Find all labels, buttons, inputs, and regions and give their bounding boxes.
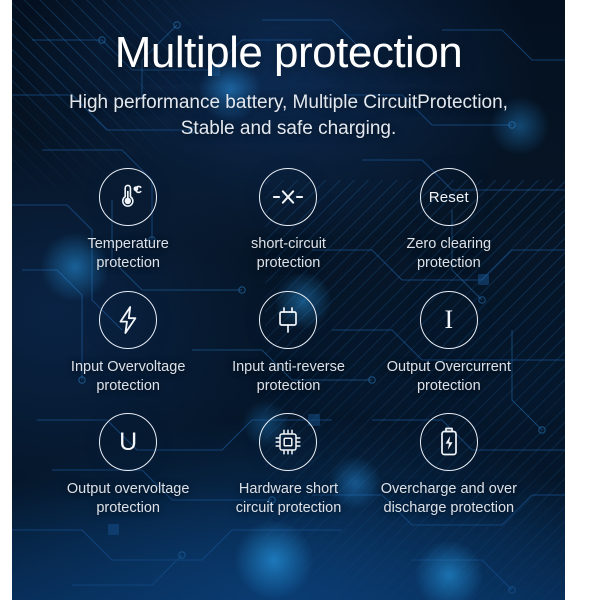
microchip-icon (273, 427, 303, 457)
feature-label-line-1: Output overvoltage (67, 480, 190, 499)
feature-label-line-2: protection (387, 377, 511, 396)
feature-label-line-2: protection (71, 377, 185, 396)
feature-label-line-1: Output Overcurrent (387, 358, 511, 377)
feature-label-line-1: short-circuit (251, 235, 326, 254)
page-subtitle: High performance battery, Multiple Circu… (12, 90, 565, 142)
feature-label-line-2: protection (87, 254, 168, 273)
feature-item-zero-clearing-protection: Reset Zero clearing protection (369, 168, 529, 273)
feature-item-temperature-protection: Temperature protection (48, 168, 208, 273)
feature-label-line-2: protection (67, 499, 190, 518)
icon-circle (259, 413, 317, 471)
feature-label-line-1: Input Overvoltage (71, 358, 185, 377)
subtitle-line-2: Stable and safe charging. (12, 116, 565, 142)
feature-label: Input Overvoltage protection (71, 358, 185, 396)
feature-label: Temperature protection (87, 235, 168, 273)
feature-label: Zero clearing protection (407, 235, 492, 273)
icon-circle: Reset (420, 168, 478, 226)
battery-bolt-icon (437, 426, 461, 458)
feature-label-line-1: Hardware short (236, 480, 342, 499)
icon-circle (259, 168, 317, 226)
icon-circle (99, 291, 157, 349)
feature-label-line-1: Overcharge and over (381, 480, 517, 499)
feature-label-line-1: Temperature (87, 235, 168, 254)
feature-label-line-2: protection (407, 254, 492, 273)
icon-circle (259, 291, 317, 349)
feature-item-overcharge-discharge-protection: Overcharge and over discharge protection (369, 413, 529, 518)
promo-banner: Multiple protection High performance bat… (0, 0, 600, 600)
icon-circle (99, 168, 157, 226)
lightning-bolt-icon (115, 305, 141, 335)
current-i-icon: I (444, 307, 453, 333)
feature-label-line-2: protection (251, 254, 326, 273)
feature-label: Input anti-reverse protection (232, 358, 345, 396)
feature-label: Output overvoltage protection (67, 480, 190, 518)
short-circuit-x-icon (272, 188, 304, 206)
page-title: Multiple protection (12, 30, 565, 76)
feature-item-input-overvoltage-protection: Input Overvoltage protection (48, 291, 208, 396)
feature-label-line-2: protection (232, 377, 345, 396)
feature-item-output-overcurrent-protection: I Output Overcurrent protection (369, 291, 529, 396)
subtitle-line-1: High performance battery, Multiple Circu… (12, 90, 565, 116)
feature-label: Output Overcurrent protection (387, 358, 511, 396)
feature-item-output-overvoltage-protection: U Output overvoltage protection (48, 413, 208, 518)
feature-item-short-circuit-protection: short-circuit protection (208, 168, 368, 273)
icon-circle: I (420, 291, 478, 349)
thermometer-celsius-icon (113, 182, 143, 212)
feature-item-input-anti-reverse-protection: Input anti-reverse protection (208, 291, 368, 396)
icon-circle: U (99, 413, 157, 471)
feature-label-line-2: discharge protection (381, 499, 517, 518)
voltage-u-icon: U (119, 430, 137, 455)
feature-item-hardware-short-circuit-protection: Hardware short circuit protection (208, 413, 368, 518)
icon-circle (420, 413, 478, 471)
feature-label-line-1: Input anti-reverse (232, 358, 345, 377)
feature-label: Hardware short circuit protection (236, 480, 342, 518)
feature-label-line-2: circuit protection (236, 499, 342, 518)
feature-label-line-1: Zero clearing (407, 235, 492, 254)
feature-label: short-circuit protection (251, 235, 326, 273)
reset-text-icon: Reset (429, 189, 469, 206)
header: Multiple protection High performance bat… (12, 30, 565, 143)
power-plug-icon (275, 305, 301, 335)
feature-grid: Temperature protection (12, 168, 565, 518)
artwork-panel: Multiple protection High performance bat… (12, 0, 565, 600)
feature-label: Overcharge and over discharge protection (381, 480, 517, 518)
